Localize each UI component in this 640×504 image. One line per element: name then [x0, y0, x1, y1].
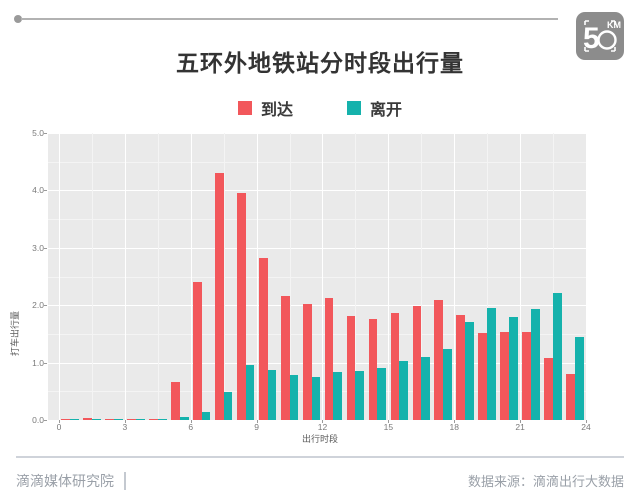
bar-离开-16 [421, 357, 430, 420]
gridline-vertical [454, 133, 455, 420]
bar-到达-2 [105, 419, 114, 420]
bar-到达-3 [127, 419, 136, 420]
y-tick-mark [44, 248, 47, 249]
bar-离开-10 [290, 375, 299, 420]
gridline-vertical-minor [158, 133, 159, 420]
legend-item-arrival[interactable]: 到达 [238, 96, 293, 120]
bar-到达-8 [237, 193, 246, 420]
bar-离开-4 [158, 419, 167, 420]
bar-离开-17 [443, 349, 452, 420]
gridline-vertical [257, 133, 258, 420]
bar-离开-12 [333, 372, 342, 420]
bar-到达-13 [347, 316, 356, 420]
gridline-vertical [59, 133, 60, 420]
bar-到达-5 [171, 382, 180, 420]
bar-到达-6 [193, 282, 202, 420]
y-tick-label: 5.0 [14, 128, 44, 138]
bar-到达-18 [456, 315, 465, 420]
chart-plot-wrapper: 打车出行量 出行时段 0.01.02.03.04.05.003691215182… [0, 126, 640, 456]
gridline-horizontal [48, 190, 586, 191]
gridline-vertical-minor [224, 133, 225, 420]
gridline-horizontal [48, 133, 586, 134]
y-tick-label: 1.0 [14, 358, 44, 368]
x-tick-mark [191, 420, 192, 423]
bar-离开-9 [268, 370, 277, 421]
bar-离开-15 [399, 361, 408, 420]
bar-到达-20 [500, 332, 509, 420]
bar-离开-23 [575, 337, 584, 420]
bar-到达-21 [522, 332, 531, 420]
gridline-vertical [322, 133, 323, 420]
bar-到达-15 [391, 313, 400, 420]
y-tick-mark [44, 190, 47, 191]
x-tick-label: 0 [57, 422, 62, 432]
bar-到达-9 [259, 258, 268, 420]
y-tick-label: 0.0 [14, 415, 44, 425]
bar-离开-5 [180, 417, 189, 420]
bar-离开-21 [531, 309, 540, 420]
x-tick-label: 15 [384, 422, 393, 432]
x-tick-label: 9 [254, 422, 259, 432]
x-tick-mark [520, 420, 521, 423]
gridline-horizontal [48, 305, 586, 306]
x-tick-label: 18 [450, 422, 459, 432]
bar-离开-6 [202, 412, 211, 420]
x-tick-mark [322, 420, 323, 423]
legend-label-arrival: 到达 [261, 96, 293, 120]
bar-到达-1 [83, 418, 92, 420]
footer: 滴滴媒体研究院 数据来源：滴滴出行大数据 [0, 466, 640, 504]
bar-到达-17 [434, 300, 443, 420]
x-tick-mark [257, 420, 258, 423]
bar-到达-10 [281, 296, 290, 420]
chart-legend: 到达 离开 [0, 96, 640, 120]
bar-离开-18 [465, 322, 474, 420]
bar-离开-2 [114, 419, 123, 420]
y-tick-mark [44, 305, 47, 306]
x-tick-mark [388, 420, 389, 423]
bar-到达-23 [566, 374, 575, 420]
bar-到达-0 [61, 419, 70, 420]
x-tick-label: 24 [581, 422, 590, 432]
gridline-horizontal [48, 420, 586, 421]
gridline-horizontal-minor [48, 219, 586, 220]
x-tick-label: 21 [515, 422, 524, 432]
footer-divider-rule [16, 456, 624, 458]
gridline-vertical [388, 133, 389, 420]
x-tick-label: 12 [318, 422, 327, 432]
legend-swatch-departure [347, 101, 361, 115]
y-tick-label: 3.0 [14, 243, 44, 253]
y-tick-label: 2.0 [14, 300, 44, 310]
plot-area [48, 133, 586, 420]
y-tick-mark [44, 133, 47, 134]
x-tick-mark [586, 420, 587, 423]
bar-离开-19 [487, 308, 496, 420]
bar-离开-7 [224, 392, 233, 420]
x-tick-mark [59, 420, 60, 423]
decoration-line [21, 18, 558, 20]
legend-swatch-arrival [238, 101, 252, 115]
gridline-vertical-minor [92, 133, 93, 420]
bar-离开-3 [136, 419, 145, 420]
bar-离开-20 [509, 317, 518, 420]
footer-vertical-divider [124, 472, 126, 490]
bar-离开-8 [246, 365, 255, 420]
y-tick-mark [44, 363, 47, 364]
x-axis-title: 出行时段 [0, 432, 640, 445]
x-tick-label: 3 [122, 422, 127, 432]
bar-到达-14 [369, 319, 378, 420]
x-tick-mark [125, 420, 126, 423]
bar-到达-11 [303, 304, 312, 420]
gridline-horizontal [48, 248, 586, 249]
gridline-vertical [191, 133, 192, 420]
gridline-horizontal-minor [48, 277, 586, 278]
bar-到达-7 [215, 173, 224, 420]
bar-到达-22 [544, 358, 553, 420]
bar-离开-0 [70, 419, 79, 420]
bar-离开-1 [92, 419, 101, 420]
footer-left-group: 滴滴媒体研究院 [16, 471, 126, 491]
gridline-horizontal-minor [48, 162, 586, 163]
chart-title: 五环外地铁站分时段出行量 [0, 44, 640, 78]
bar-到达-12 [325, 298, 334, 420]
bar-到达-19 [478, 333, 487, 420]
gridline-vertical [520, 133, 521, 420]
bar-到达-16 [413, 306, 422, 420]
bar-到达-4 [149, 419, 158, 420]
y-axis-title: 打车出行量 [8, 311, 21, 356]
y-tick-label: 4.0 [14, 185, 44, 195]
legend-label-departure: 离开 [370, 96, 402, 120]
gridline-vertical [125, 133, 126, 420]
bar-离开-11 [312, 377, 321, 420]
bar-离开-14 [377, 368, 386, 420]
legend-item-departure[interactable]: 离开 [347, 96, 402, 120]
top-decoration-rule [14, 12, 558, 26]
bar-离开-13 [355, 371, 364, 420]
x-tick-label: 6 [188, 422, 193, 432]
x-tick-mark [454, 420, 455, 423]
footer-brand-label: 滴滴媒体研究院 [16, 471, 114, 491]
y-tick-mark [44, 420, 47, 421]
footer-source-label: 数据来源：滴滴出行大数据 [468, 471, 624, 490]
gridline-vertical [586, 133, 587, 420]
bar-离开-22 [553, 293, 562, 420]
